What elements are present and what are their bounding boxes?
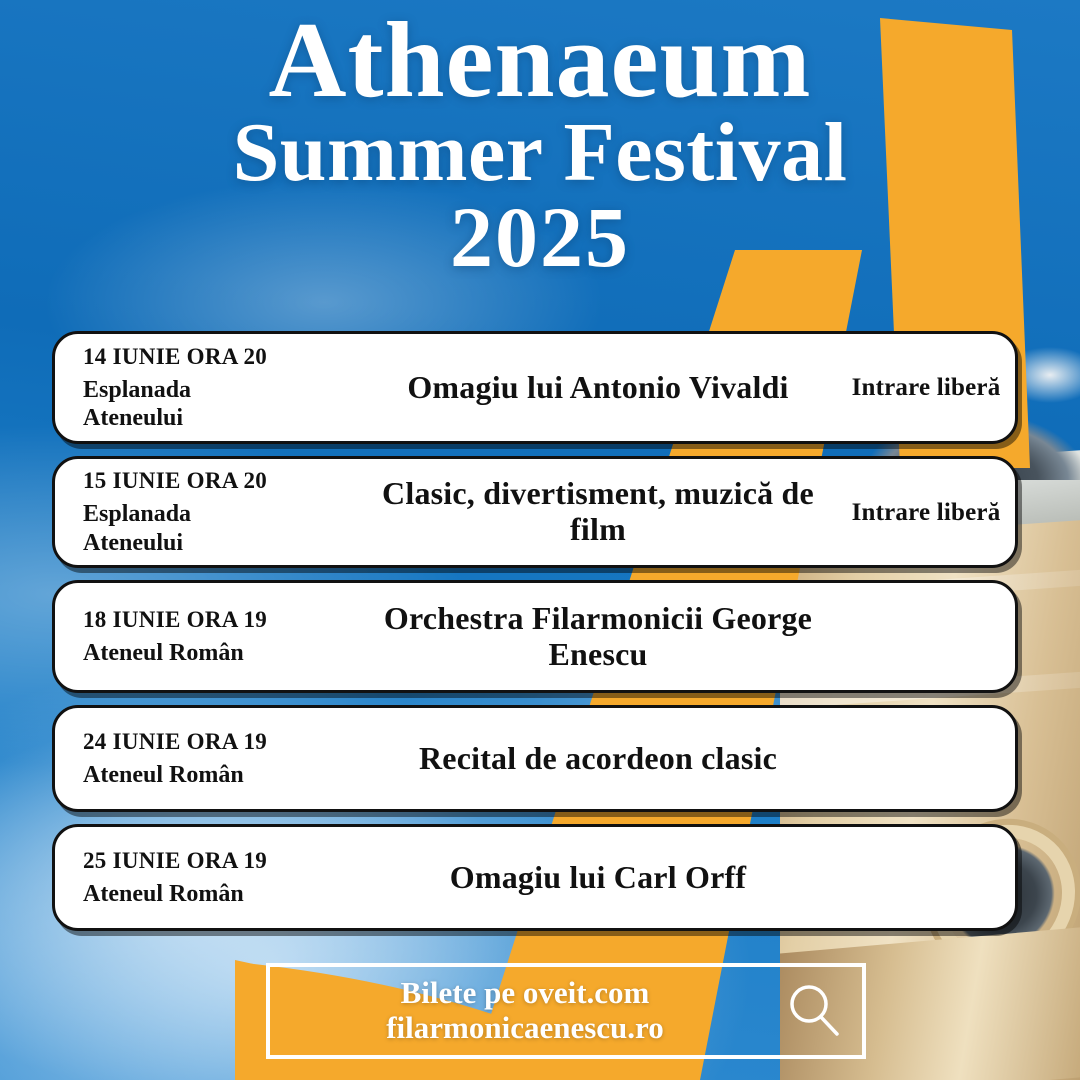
search-icon[interactable]	[766, 980, 862, 1042]
event-date: 24 IUNIE ORA 19	[83, 728, 345, 755]
event-venue: Ateneul Român	[83, 761, 263, 789]
event-date: 18 IUNIE ORA 19	[83, 606, 345, 633]
event-venue: Ateneul Român	[83, 639, 263, 667]
event-title: Clasic, divertisment, muzică de film	[345, 476, 851, 548]
event-when: 18 IUNIE ORA 19 Ateneul Român	[83, 606, 345, 667]
title-year: 2025	[0, 194, 1080, 280]
event-when: 14 IUNIE ORA 20 Esplanada Ateneului	[83, 343, 345, 433]
event-venue: Ateneul Român	[83, 880, 263, 908]
title-subtitle: Summer Festival	[0, 110, 1080, 196]
event-when: 15 IUNIE ORA 20 Esplanada Ateneului	[83, 467, 345, 557]
event-date: 25 IUNIE ORA 19	[83, 847, 345, 874]
event-when: 25 IUNIE ORA 19 Ateneul Român	[83, 847, 345, 908]
festival-poster: Athenaeum Summer Festival 2025 14 IUNIE …	[0, 0, 1080, 1080]
ticket-info-text: Bilete pe oveit.com filarmonicaenescu.ro	[270, 976, 766, 1045]
event-date: 14 IUNIE ORA 20	[83, 343, 345, 370]
poster-title-block: Athenaeum Summer Festival 2025	[0, 8, 1080, 280]
ticket-website-line: filarmonicaenescu.ro	[284, 1011, 766, 1046]
event-card[interactable]: 14 IUNIE ORA 20 Esplanada Ateneului Omag…	[52, 331, 1018, 444]
title-main: Athenaeum	[0, 8, 1080, 114]
event-title: Orchestra Filarmonicii George Enescu	[345, 601, 851, 673]
event-venue: Esplanada Ateneului	[83, 500, 263, 557]
event-admission-tag: Intrare liberă	[851, 374, 1001, 401]
event-venue: Esplanada Ateneului	[83, 376, 263, 433]
event-when: 24 IUNIE ORA 19 Ateneul Român	[83, 728, 345, 789]
event-title: Omagiu lui Antonio Vivaldi	[345, 370, 851, 406]
event-schedule-list: 14 IUNIE ORA 20 Esplanada Ateneului Omag…	[52, 331, 1018, 943]
event-card[interactable]: 24 IUNIE ORA 19 Ateneul Român Recital de…	[52, 705, 1018, 812]
event-card[interactable]: 15 IUNIE ORA 20 Esplanada Ateneului Clas…	[52, 456, 1018, 568]
event-card[interactable]: 25 IUNIE ORA 19 Ateneul Român Omagiu lui…	[52, 824, 1018, 931]
ticket-vendor-line: Bilete pe oveit.com	[284, 976, 766, 1011]
event-date: 15 IUNIE ORA 20	[83, 467, 345, 494]
event-title: Omagiu lui Carl Orff	[345, 860, 851, 896]
event-admission-tag: Intrare liberă	[851, 499, 1001, 526]
ticket-info-box[interactable]: Bilete pe oveit.com filarmonicaenescu.ro	[266, 963, 866, 1059]
event-title: Recital de acordeon clasic	[345, 741, 851, 777]
event-card[interactable]: 18 IUNIE ORA 19 Ateneul Român Orchestra …	[52, 580, 1018, 693]
